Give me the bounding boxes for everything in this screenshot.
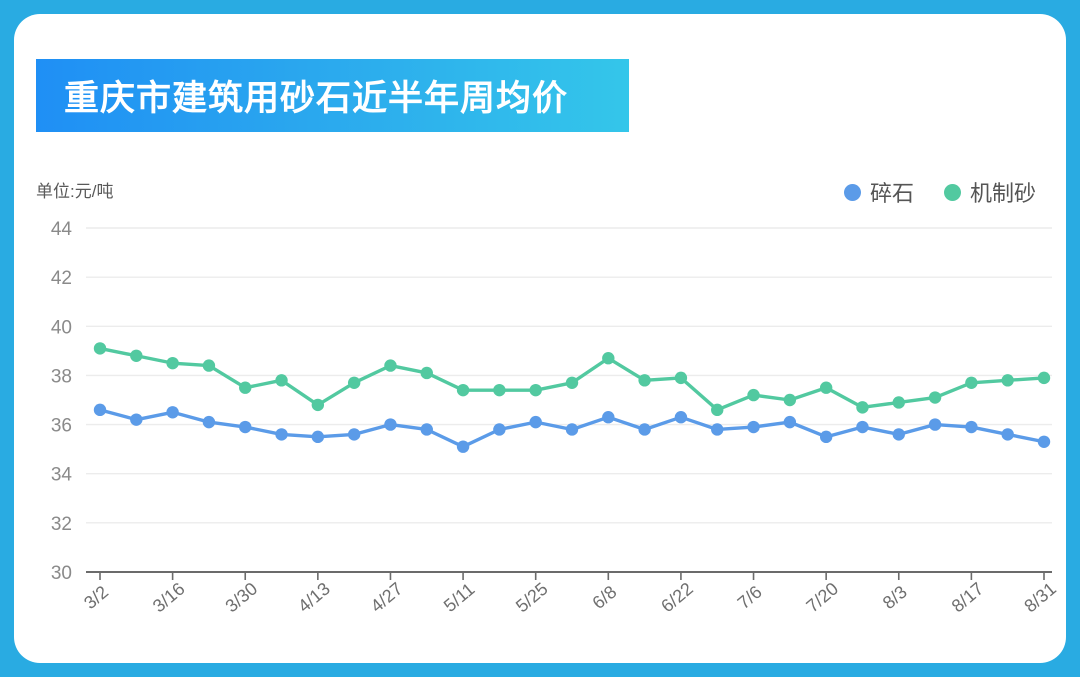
data-point[interactable] xyxy=(421,367,433,379)
data-point[interactable] xyxy=(384,418,396,430)
data-point[interactable] xyxy=(893,428,905,440)
data-point[interactable] xyxy=(965,377,977,389)
data-point[interactable] xyxy=(275,428,287,440)
data-point[interactable] xyxy=(312,399,324,411)
x-axis-tick-label: 5/11 xyxy=(440,579,479,616)
data-point[interactable] xyxy=(856,421,868,433)
x-axis-tick-label: 6/22 xyxy=(657,578,697,616)
data-point[interactable] xyxy=(820,382,832,394)
x-axis-tick-label: 6/8 xyxy=(588,582,620,613)
x-axis-tick-label: 7/6 xyxy=(734,582,766,613)
data-point[interactable] xyxy=(130,350,142,362)
x-axis-tick-label: 3/16 xyxy=(149,578,189,616)
data-point[interactable] xyxy=(747,421,759,433)
y-axis-tick-label: 40 xyxy=(51,317,72,338)
y-axis-tick-label: 42 xyxy=(51,268,72,289)
data-point[interactable] xyxy=(820,431,832,443)
x-axis-tick-label: 3/30 xyxy=(222,578,262,616)
data-point[interactable] xyxy=(1038,372,1050,384)
data-point[interactable] xyxy=(566,423,578,435)
data-point[interactable] xyxy=(94,342,106,354)
x-axis-tick-label: 5/25 xyxy=(512,578,552,616)
data-point[interactable] xyxy=(94,404,106,416)
data-point[interactable] xyxy=(529,416,541,428)
data-point[interactable] xyxy=(784,416,796,428)
data-point[interactable] xyxy=(1001,428,1013,440)
x-axis-tick-label: 3/2 xyxy=(80,582,112,613)
y-axis-tick-label: 32 xyxy=(51,514,72,535)
y-axis-tick-label: 34 xyxy=(51,465,73,486)
data-point[interactable] xyxy=(130,413,142,425)
y-axis-tick-label: 30 xyxy=(51,563,72,584)
chart-plot-area: 30323436384042443/23/163/304/134/275/115… xyxy=(14,14,1066,663)
data-point[interactable] xyxy=(239,421,251,433)
data-point[interactable] xyxy=(457,384,469,396)
x-axis-tick-label: 8/31 xyxy=(1020,578,1060,616)
data-point[interactable] xyxy=(312,431,324,443)
chart-card: 重庆市建筑用砂石近半年周均价 单位:元/吨 碎石 机制砂 30323436384… xyxy=(14,14,1066,663)
data-point[interactable] xyxy=(566,377,578,389)
data-point[interactable] xyxy=(1001,374,1013,386)
data-point[interactable] xyxy=(203,359,215,371)
data-point[interactable] xyxy=(384,359,396,371)
x-axis-tick-label: 8/3 xyxy=(879,582,911,613)
x-axis-tick-label: 7/20 xyxy=(802,578,842,616)
y-axis-tick-label: 36 xyxy=(51,416,72,437)
data-point[interactable] xyxy=(638,423,650,435)
data-point[interactable] xyxy=(493,384,505,396)
data-point[interactable] xyxy=(421,423,433,435)
y-axis-tick-label: 44 xyxy=(51,219,73,240)
data-point[interactable] xyxy=(929,391,941,403)
x-axis-tick-label: 8/17 xyxy=(948,578,988,616)
data-point[interactable] xyxy=(638,374,650,386)
data-point[interactable] xyxy=(965,421,977,433)
data-point[interactable] xyxy=(166,357,178,369)
data-point[interactable] xyxy=(856,401,868,413)
x-axis-tick-label: 4/13 xyxy=(294,578,334,616)
data-point[interactable] xyxy=(675,411,687,423)
x-axis-tick-label: 4/27 xyxy=(367,578,407,616)
data-point[interactable] xyxy=(1038,436,1050,448)
data-point[interactable] xyxy=(675,372,687,384)
y-axis-tick-label: 38 xyxy=(51,366,72,387)
data-point[interactable] xyxy=(348,428,360,440)
data-point[interactable] xyxy=(348,377,360,389)
data-point[interactable] xyxy=(529,384,541,396)
data-point[interactable] xyxy=(711,404,723,416)
line-chart: 30323436384042443/23/163/304/134/275/115… xyxy=(14,14,1066,663)
data-point[interactable] xyxy=(602,411,614,423)
data-point[interactable] xyxy=(239,382,251,394)
data-point[interactable] xyxy=(166,406,178,418)
data-point[interactable] xyxy=(602,352,614,364)
data-point[interactable] xyxy=(493,423,505,435)
data-point[interactable] xyxy=(457,440,469,452)
data-point[interactable] xyxy=(893,396,905,408)
data-point[interactable] xyxy=(711,423,723,435)
data-point[interactable] xyxy=(747,389,759,401)
data-point[interactable] xyxy=(203,416,215,428)
data-point[interactable] xyxy=(784,394,796,406)
data-point[interactable] xyxy=(275,374,287,386)
data-point[interactable] xyxy=(929,418,941,430)
